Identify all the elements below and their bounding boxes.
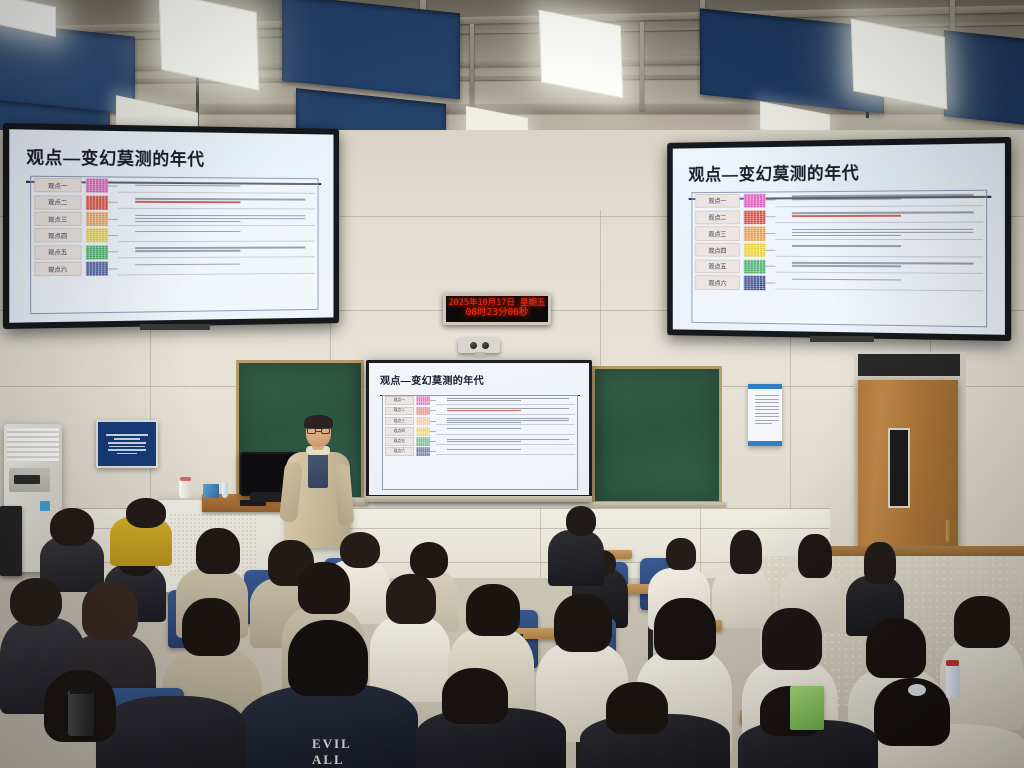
slide-row-connector xyxy=(765,249,775,250)
slide-title: 观点—变幻莫测的年代 xyxy=(26,143,321,172)
display-left[interactable]: 观点—变幻莫测的年代 观点一观点二观点三观点四观点五观点六 xyxy=(3,123,339,329)
slide-row-text xyxy=(118,179,315,193)
slide-row-icon xyxy=(85,228,107,242)
display-right-mount xyxy=(810,336,874,342)
student-head xyxy=(182,598,240,656)
slide-row-text-line xyxy=(447,428,521,429)
slide-row-text-line xyxy=(135,220,240,221)
slide-row-text-line xyxy=(135,250,240,252)
slide-row-text xyxy=(118,196,315,210)
slide-row: 观点四 xyxy=(693,242,987,259)
slide-title: 观点—变幻莫测的年代 xyxy=(380,372,580,387)
slide-row-connector xyxy=(108,252,118,253)
slide-row-text-line xyxy=(792,194,973,197)
slide-row: 观点三 xyxy=(383,416,577,426)
slide-content-box: 观点一观点二观点三观点四观点五观点六 xyxy=(30,176,318,315)
slide-row-icon xyxy=(416,437,430,446)
slide-row-text-line xyxy=(135,263,240,265)
slide-row-text-line xyxy=(447,439,569,440)
slide-row-icon xyxy=(744,226,766,240)
slide-content-box: 观点一观点二观点三观点四观点五观点六 xyxy=(382,395,578,490)
slide-rows: 观点一观点二观点三观点四观点五观点六 xyxy=(693,190,987,293)
student-head xyxy=(730,530,762,574)
slide-row: 观点六 xyxy=(383,446,577,456)
slide-row-icon xyxy=(416,396,430,405)
slide-row-icon xyxy=(416,447,430,456)
slide-row-label: 观点四 xyxy=(695,243,739,257)
slide-row-label: 观点三 xyxy=(385,417,414,426)
student-head xyxy=(126,498,166,528)
slide-row-text-line xyxy=(135,201,240,203)
slide-row-connector xyxy=(765,266,775,267)
student-head xyxy=(606,682,668,734)
slide-row: 观点五 xyxy=(31,243,317,261)
wall-notice-sign: 多媒体教室使用管理规定 xyxy=(96,420,158,468)
student-head xyxy=(410,542,448,578)
slide-row-text-line xyxy=(792,198,901,200)
slide-row-label: 观点二 xyxy=(34,195,81,209)
small-bottle[interactable] xyxy=(222,482,228,498)
camera-lens-icon xyxy=(470,342,477,349)
slide-row-icon xyxy=(744,259,766,273)
student-head xyxy=(82,582,138,640)
slide-row-icon xyxy=(85,195,107,209)
slide-row-connector xyxy=(108,202,118,203)
slide-row-text xyxy=(118,229,315,242)
slide-row-text-line xyxy=(792,215,901,217)
slide-row-text-line xyxy=(792,262,973,264)
slide-row-text-line xyxy=(447,441,521,442)
slide-row-label: 观点四 xyxy=(385,427,414,436)
slide-row-text xyxy=(775,226,983,240)
slide-left: 观点—变幻莫测的年代 观点一观点二观点三观点四观点五观点六 xyxy=(9,129,333,323)
slide-row-label: 观点一 xyxy=(385,396,414,405)
slide-row-text xyxy=(118,212,315,225)
slide-row-text-line xyxy=(447,408,569,409)
slide-row-text-line xyxy=(135,247,306,249)
projection-screen-surface: 观点—变幻莫测的年代 观点一观点二观点三观点四观点五观点六 xyxy=(369,363,589,495)
slide-row-connector xyxy=(108,218,118,219)
student-head xyxy=(566,506,596,536)
slide-row-label: 观点三 xyxy=(34,212,81,226)
student-head xyxy=(340,532,380,568)
slide-row-label: 观点四 xyxy=(34,228,81,242)
white-cup[interactable] xyxy=(179,480,191,498)
slide-title: 观点—变幻莫测的年代 xyxy=(688,157,990,186)
student-head xyxy=(554,594,612,652)
slide-row-text-line xyxy=(447,410,521,411)
slide-row-label: 观点一 xyxy=(34,178,81,193)
student-head xyxy=(762,608,822,670)
ac-display-panel xyxy=(9,468,51,492)
slide-row-text xyxy=(436,437,575,445)
slide-row: 观点一 xyxy=(383,396,577,406)
slide-row: 观点二 xyxy=(31,194,317,212)
slide-row-icon xyxy=(85,262,107,276)
slide-row-text xyxy=(436,447,575,455)
slide-row-text xyxy=(118,261,315,275)
slide-row-text-line xyxy=(447,418,569,419)
student-head xyxy=(442,668,508,724)
slide-row-connector xyxy=(108,235,118,236)
ceiling-hanger xyxy=(470,24,474,110)
slide-row-text xyxy=(775,243,983,257)
slide-row-label: 观点三 xyxy=(695,226,739,240)
slide-row-text xyxy=(436,407,575,415)
display-right[interactable]: 观点—变幻莫测的年代 观点一观点二观点三观点四观点五观点六 xyxy=(667,137,1011,341)
slide-row-text xyxy=(775,276,983,291)
led-clock-time: 08时23分06秒 xyxy=(466,308,529,319)
student-head xyxy=(288,620,368,696)
slide-row-icon xyxy=(744,243,766,257)
student-body xyxy=(712,568,770,628)
ceiling xyxy=(0,0,1024,136)
slide-row-icon xyxy=(744,193,766,207)
slide-row-label: 观点六 xyxy=(695,275,739,289)
slide-row-label: 观点六 xyxy=(385,447,414,456)
slide-row: 观点一 xyxy=(31,177,317,195)
bottle-cap xyxy=(946,660,959,666)
student-head xyxy=(386,574,436,624)
slide-row-icon xyxy=(85,212,107,226)
slide-right: 观点—变幻莫测的年代 观点一观点二观点三观点四观点五观点六 xyxy=(673,143,1005,335)
blue-box[interactable] xyxy=(203,484,219,498)
led-clock-display: 2025年10月17日 星期五 08时23分06秒 xyxy=(443,293,551,325)
slide-row-icon xyxy=(744,276,766,290)
presenter-hair xyxy=(304,415,333,429)
slide-row-label: 观点一 xyxy=(695,194,739,208)
student-head xyxy=(864,542,896,584)
projection-screen[interactable]: 观点—变幻莫测的年代 观点一观点二观点三观点四观点五观点六 xyxy=(366,360,592,498)
hoodie-text: EVIL ALL xyxy=(312,736,351,768)
slide-row-text-line xyxy=(447,400,521,401)
student-head xyxy=(798,534,832,578)
presenter-shirt xyxy=(308,450,328,488)
slide-row-connector xyxy=(108,185,118,186)
slide-row-connector xyxy=(765,233,775,234)
slide-row-text-line xyxy=(447,420,569,421)
slide-row-text xyxy=(436,417,575,425)
ceiling-hanger xyxy=(640,22,644,110)
student-head xyxy=(10,578,62,626)
ceiling-light-panel xyxy=(159,0,260,91)
slide-row: 观点六 xyxy=(693,274,987,293)
slide-row-text xyxy=(775,209,983,223)
slide-content-box: 观点一观点二观点三观点四观点五观点六 xyxy=(692,189,988,327)
slide-row-connector xyxy=(108,268,118,269)
slide-row-text-line xyxy=(792,245,901,247)
slide-row-text-line xyxy=(135,214,306,216)
student-head xyxy=(298,562,350,614)
slide-row-text-line xyxy=(135,231,240,232)
display-left-screen: 观点—变幻莫测的年代 观点一观点二观点三观点四观点五观点六 xyxy=(9,129,333,323)
student-body xyxy=(96,696,246,768)
slide-center: 观点—变幻莫测的年代 观点一观点二观点三观点四观点五观点六 xyxy=(369,363,589,495)
slide-row-text-line xyxy=(792,211,973,213)
slide-row-text-line xyxy=(792,279,901,281)
bottle-cap xyxy=(70,686,92,694)
display-left-mount xyxy=(140,324,210,330)
slide-row-connector xyxy=(765,216,775,217)
slide-row-text xyxy=(118,245,315,259)
slide-rows: 观点一观点二观点三观点四观点五观点六 xyxy=(31,177,317,278)
slide-row-icon xyxy=(85,179,107,193)
slide-row-text-line xyxy=(135,217,306,219)
display-right-screen: 观点—变幻莫测的年代 观点一观点二观点三观点四观点五观点六 xyxy=(673,143,1005,335)
slide-row: 观点五 xyxy=(693,258,987,276)
slide-row: 观点四 xyxy=(31,227,317,244)
slide-row-text-line xyxy=(792,235,901,236)
hair-clip xyxy=(908,684,926,696)
schedule-poster: 课程表 xyxy=(748,384,782,446)
cup-lid xyxy=(180,477,191,481)
slide-row-text xyxy=(436,397,575,405)
slide-row-text-line xyxy=(792,265,901,267)
slide-row: 观点二 xyxy=(383,406,577,416)
slide-row-text xyxy=(775,260,983,274)
door-window xyxy=(888,428,910,508)
slide-row: 观点四 xyxy=(383,426,577,436)
water-bottle[interactable] xyxy=(68,690,94,736)
slide-row-icon xyxy=(416,417,430,426)
slide-row-icon xyxy=(416,427,430,436)
camera-stand xyxy=(475,352,485,358)
slide-rows: 观点一观点二观点三观点四观点五观点六 xyxy=(383,396,577,457)
student-head xyxy=(866,618,926,678)
student-head xyxy=(196,528,240,574)
slide-row-label: 观点二 xyxy=(695,210,739,224)
student-head xyxy=(654,598,716,660)
slide-row-label: 观点五 xyxy=(34,245,81,260)
student-head xyxy=(466,584,520,636)
slide-row-text xyxy=(775,192,983,207)
clear-bottle[interactable] xyxy=(946,664,960,698)
slide-row-text-line xyxy=(447,449,521,450)
student-head xyxy=(954,596,1010,648)
camera-lens-icon xyxy=(482,342,489,349)
slide-row-text-line xyxy=(447,422,521,423)
acoustic-panel xyxy=(0,19,135,114)
audience-area: EVIL ALL xyxy=(0,498,1024,768)
snack-package[interactable] xyxy=(790,686,824,730)
slide-row-text-line xyxy=(135,184,240,186)
slide-row-connector xyxy=(765,200,775,201)
student-body xyxy=(548,530,604,586)
ceiling-light-panel xyxy=(539,10,623,99)
student-head xyxy=(666,538,696,570)
slide-row-label: 观点五 xyxy=(695,259,739,273)
chalkboard-right xyxy=(592,366,722,504)
slide-row: 观点一 xyxy=(693,190,987,209)
slide-row-icon xyxy=(416,407,430,416)
slide-row: 观点二 xyxy=(693,208,987,226)
slide-row: 观点三 xyxy=(693,225,987,242)
acoustic-panel xyxy=(944,30,1024,128)
slide-row-label: 观点二 xyxy=(385,407,414,416)
slide-row-icon xyxy=(744,210,766,224)
student-head xyxy=(50,508,94,546)
slide-row-connector xyxy=(765,282,775,283)
lecture-hall-photo: 观点—变幻莫测的年代 观点一观点二观点三观点四观点五观点六 观点—变幻莫测的年代… xyxy=(0,0,1024,768)
slide-row-text-line xyxy=(135,198,306,200)
acoustic-panel xyxy=(282,0,460,99)
slide-row-label: 观点六 xyxy=(34,262,81,277)
presenter-glasses xyxy=(307,428,330,435)
slide-row-text-line xyxy=(792,229,973,231)
conference-camera xyxy=(458,338,500,353)
slide-row: 观点六 xyxy=(31,259,317,278)
slide-row-label: 观点五 xyxy=(385,437,414,446)
slide-row-icon xyxy=(85,245,107,259)
slide-row-text-line xyxy=(792,232,973,234)
slide-row-text xyxy=(436,427,575,435)
slide-row: 观点三 xyxy=(31,210,317,227)
slide-row: 观点五 xyxy=(383,436,577,446)
door-transom xyxy=(858,354,960,376)
slide-row-text-line xyxy=(447,398,569,399)
